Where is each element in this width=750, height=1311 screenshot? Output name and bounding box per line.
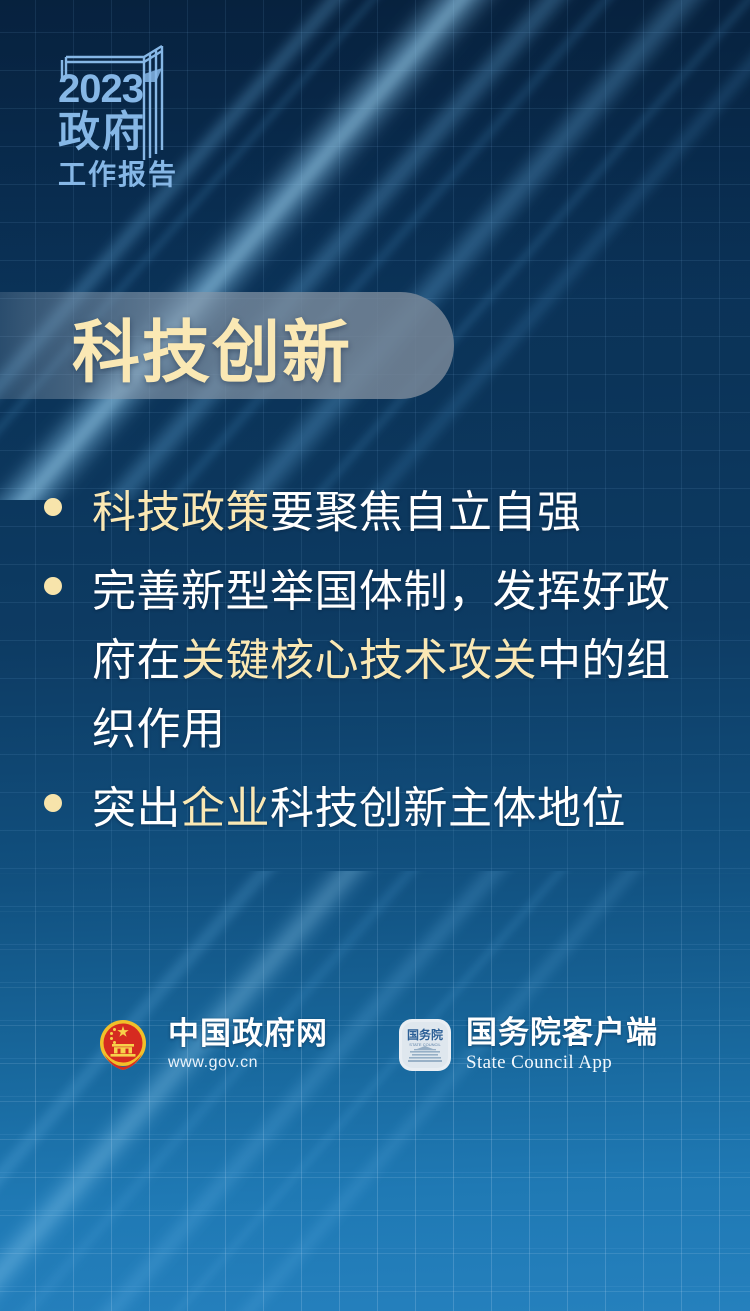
- brand-state-council-app: 国务院 STATE COUNCIL 国务院客户端 State Council A…: [398, 1015, 658, 1075]
- national-emblem-icon: [92, 1014, 154, 1076]
- bullet-text-2: 完善新型举国体制，发挥好政府在关键核心技术攻关中的组织作用: [92, 557, 708, 764]
- brand-name-cn: 国务院客户端: [466, 1015, 658, 1051]
- section-title: 科技创新: [72, 296, 502, 396]
- report-logo: 2023 政府 工作报告: [44, 38, 176, 190]
- svg-text:2023: 2023: [58, 67, 143, 111]
- svg-text:工作报告: 工作报告: [58, 159, 176, 190]
- list-item: 科技政策要聚焦自立自强: [44, 478, 708, 547]
- list-item: 突出企业科技创新主体地位: [44, 774, 708, 843]
- highlight-segment: 科技政策: [92, 488, 270, 537]
- brand-words: 国务院客户端 State Council App: [466, 1015, 658, 1075]
- bullet-text-3: 突出企业科技创新主体地位: [92, 774, 708, 843]
- poster-canvas: 2023 政府 工作报告 科技创新 科技政策要聚焦自立自强 完善新型举国体制，发…: [0, 0, 750, 1311]
- bullet-dot-icon: [44, 577, 62, 595]
- brand-name-cn: 中国政府网: [168, 1016, 328, 1052]
- brand-china-gov-net: 中国政府网 www.gov.cn: [92, 1014, 328, 1076]
- footer-brands: 中国政府网 www.gov.cn 国务院 STATE COUNCIL: [0, 1014, 750, 1076]
- highlight-segment: 企业: [181, 784, 270, 833]
- bullet-dot-icon: [44, 794, 62, 812]
- plain-segment: 科技创新主体地位: [270, 784, 626, 833]
- state-council-app-icon: 国务院 STATE COUNCIL: [398, 1018, 452, 1072]
- plain-segment: 要聚焦自立自强: [270, 488, 582, 537]
- plain-segment: 突出: [92, 784, 181, 833]
- svg-text:政府: 政府: [58, 108, 146, 155]
- bullet-text-1: 科技政策要聚焦自立自强: [92, 478, 708, 547]
- brand-name-sub: State Council App: [466, 1051, 658, 1075]
- brand-name-sub: www.gov.cn: [168, 1052, 328, 1074]
- bullet-dot-icon: [44, 498, 62, 516]
- background-grid-pattern-bottom: [0, 841, 750, 1311]
- brand-words: 中国政府网 www.gov.cn: [168, 1016, 328, 1074]
- bullet-list: 科技政策要聚焦自立自强 完善新型举国体制，发挥好政府在关键核心技术攻关中的组织作…: [44, 478, 708, 853]
- list-item: 完善新型举国体制，发挥好政府在关键核心技术攻关中的组织作用: [44, 557, 708, 764]
- highlight-segment: 关键核心技术攻关: [181, 636, 537, 685]
- svg-text:国务院: 国务院: [407, 1027, 443, 1042]
